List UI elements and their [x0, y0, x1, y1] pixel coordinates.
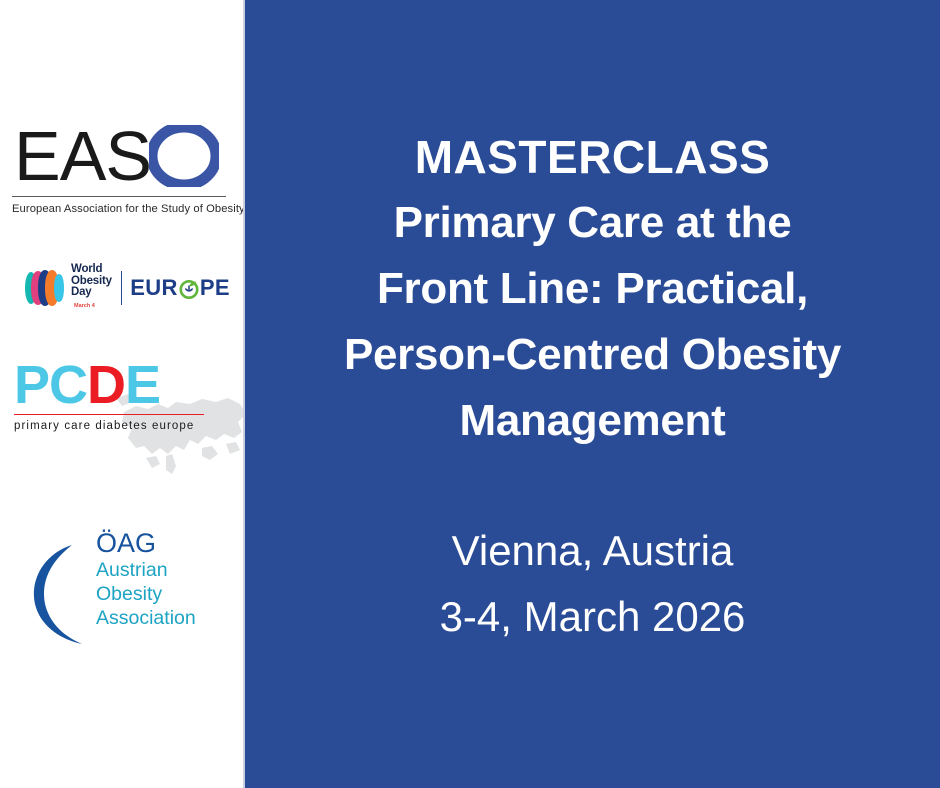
easo-tagline: European Association for the Study of Ob… — [12, 203, 230, 215]
easo-acronym-text: EAS — [14, 123, 151, 189]
pcde-letter-e: E — [125, 355, 160, 415]
apple-leaf-icon — [178, 277, 200, 299]
easo-divider — [12, 196, 226, 197]
world-obesity-day-logo: World Obesity DayMarch 4 EUR PE — [22, 262, 230, 314]
pcde-wordmark: PCDE — [14, 360, 230, 410]
world-obesity-day-wordmark: World Obesity DayMarch 4 — [71, 264, 114, 312]
pcde-logo: PCDE primary care diabetes europe — [14, 360, 230, 432]
pcde-tagline: primary care diabetes europe — [14, 420, 230, 432]
oag-sub-obesity: Obesity — [96, 582, 196, 606]
pcde-divider — [14, 414, 204, 415]
crescent-moon-icon — [30, 543, 90, 648]
logo-panel: EAS European Association for the Study o… — [0, 0, 245, 788]
event-dates: 3-4, March 2026 — [283, 584, 903, 650]
wod-date-badge: March 4 — [74, 301, 95, 313]
event-title-line-3: Person-Centred Obesity — [283, 322, 903, 388]
wod-line-world: World — [71, 264, 114, 276]
oag-sub-association: Association — [96, 606, 196, 630]
world-obesity-day-bars-icon — [22, 269, 66, 307]
pcde-letters-pc: PC — [14, 355, 87, 415]
event-title-line-1: Primary Care at the — [283, 190, 903, 256]
oag-sub-austrian: Austrian — [96, 558, 196, 582]
event-location: Vienna, Austria — [283, 518, 903, 584]
event-meta: Vienna, Austria 3-4, March 2026 — [283, 518, 903, 650]
wod-separator — [121, 271, 122, 305]
wod-day-text: Day — [71, 286, 92, 298]
easo-o-icon — [149, 125, 219, 187]
easo-logo: EAS European Association for the Study o… — [12, 120, 230, 215]
europe-wordmark: EUR PE — [130, 275, 230, 301]
europe-suffix-text: PE — [200, 275, 230, 301]
event-poster: EAS European Association for the Study o… — [0, 0, 940, 788]
easo-wordmark: EAS — [12, 120, 230, 192]
europe-prefix-text: EUR — [130, 275, 178, 301]
event-kicker: MASTERCLASS — [283, 124, 903, 190]
event-title-line-2: Front Line: Practical, — [283, 256, 903, 322]
event-details-panel: MASTERCLASS Primary Care at the Front Li… — [245, 0, 940, 788]
pcde-letter-d: D — [87, 355, 125, 415]
event-headline: MASTERCLASS Primary Care at the Front Li… — [283, 124, 903, 454]
oag-logo: ÖAG Austrian Obesity Association — [30, 515, 235, 650]
wod-line-day: DayMarch 4 — [71, 287, 114, 312]
oag-wordmark: ÖAG Austrian Obesity Association — [96, 529, 196, 630]
event-title-line-4: Management — [283, 388, 903, 454]
oag-acronym: ÖAG — [96, 529, 196, 558]
